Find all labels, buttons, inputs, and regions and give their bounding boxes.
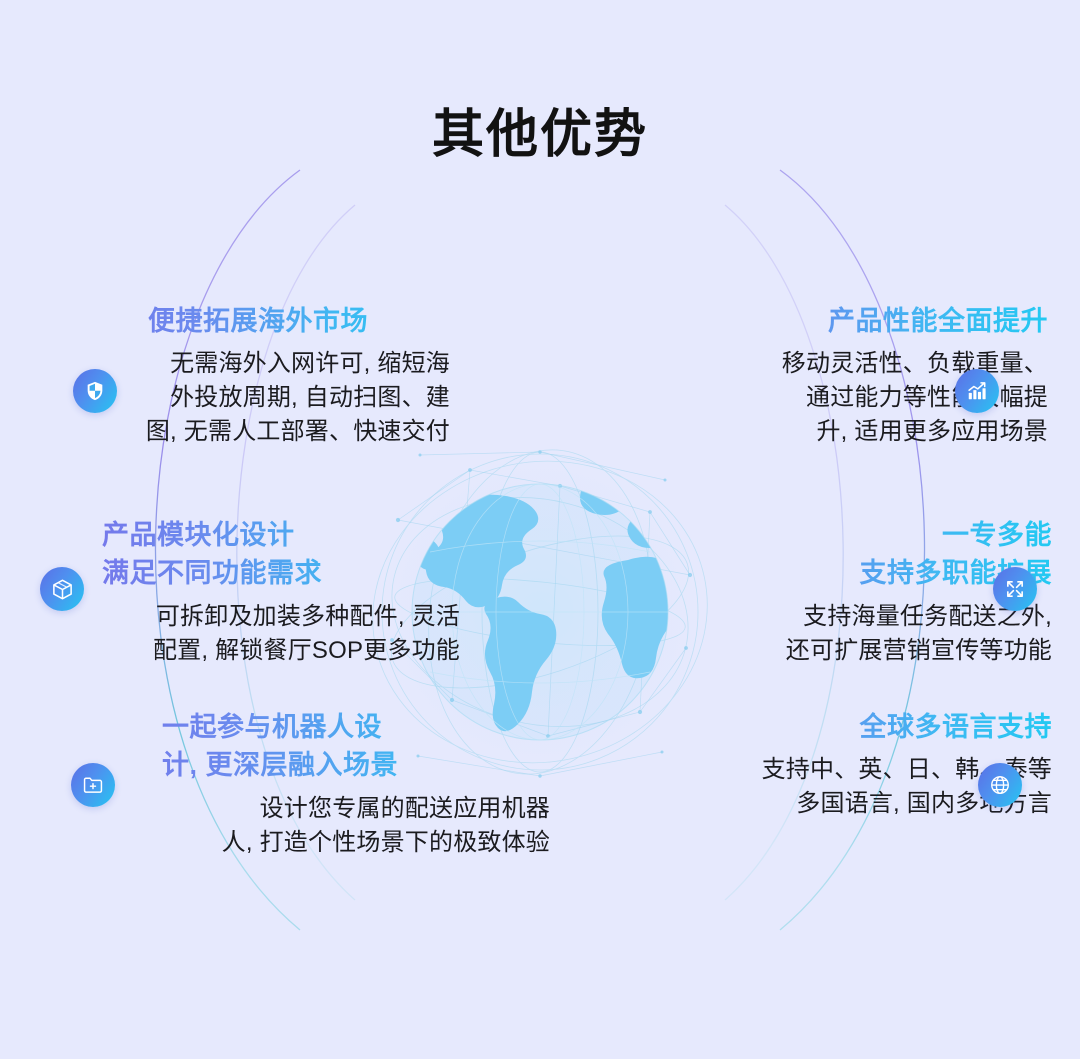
feature-heading: 一专多能 支持多职能扩展 (640, 516, 1052, 593)
feature-heading: 一起参与机器人设 计, 更深层融入场景 (40, 708, 550, 785)
feature-body: 设计您专属的配送应用机器 人, 打造个性场景下的极致体验 (40, 792, 550, 860)
feature-heading: 产品性能全面提升 (628, 302, 1048, 340)
growth-chart-icon[interactable] (955, 369, 999, 413)
expand-arrows-icon[interactable] (993, 567, 1037, 611)
feature-block-multi-function: 一专多能 支持多职能扩展 支持海量任务配送之外, 还可扩展营销宣传等功能 (640, 516, 1052, 668)
feature-heading: 产品模块化设计 满足不同功能需求 (40, 516, 460, 593)
shield-icon[interactable] (73, 369, 117, 413)
cube-icon[interactable] (40, 567, 84, 611)
feature-body: 可拆卸及加装多种配件, 灵活 配置, 解锁餐厅SOP更多功能 (40, 600, 460, 668)
feature-block-co-design-robot: 一起参与机器人设 计, 更深层融入场景 设计您专属的配送应用机器 人, 打造个性… (40, 708, 550, 860)
feature-heading: 便捷拓展海外市场 (40, 302, 450, 340)
feature-body: 支持海量任务配送之外, 还可扩展营销宣传等功能 (640, 600, 1052, 668)
add-folder-icon[interactable] (71, 763, 115, 807)
feature-block-modular-design: 产品模块化设计 满足不同功能需求 可拆卸及加装多种配件, 灵活 配置, 解锁餐厅… (40, 516, 460, 668)
page-title: 其他优势 (0, 104, 1080, 166)
feature-heading: 全球多语言支持 (640, 708, 1052, 746)
globe-icon[interactable] (978, 763, 1022, 807)
